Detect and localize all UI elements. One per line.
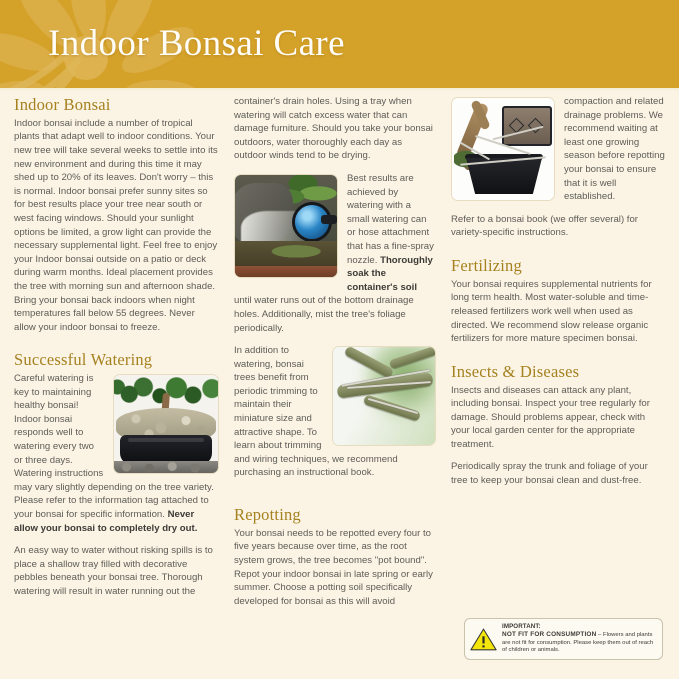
wired-bonsai-branch-photo xyxy=(332,346,436,446)
paragraph-drain-holes: container's drain holes. Using a tray wh… xyxy=(234,95,436,163)
heading-indoor-bonsai: Indoor Bonsai xyxy=(14,95,219,115)
warning-text: IMPORTANT: NOT FIT FOR CONSUMPTION – Flo… xyxy=(502,623,656,654)
warning-headline: NOT FIT FOR CONSUMPTION xyxy=(502,631,596,638)
paragraph-fertilizing: Your bonsai requires supplemental nutrie… xyxy=(451,278,665,346)
warning-triangle-icon xyxy=(470,627,497,651)
column-1: Indoor Bonsai Indoor bonsai include a nu… xyxy=(14,95,231,679)
best-results-plain: Best results are achieved by watering wi… xyxy=(347,173,434,266)
warning-important-label: IMPORTANT: xyxy=(502,623,656,631)
paragraph-indoor-bonsai: Indoor bonsai include a number of tropic… xyxy=(14,117,219,335)
important-warning-box: IMPORTANT: NOT FIT FOR CONSUMPTION – Flo… xyxy=(464,618,663,660)
header-divider xyxy=(0,88,679,91)
column-3: compaction and related drainage problems… xyxy=(448,95,665,679)
heading-repotting: Repotting xyxy=(234,505,436,525)
page-header: Indoor Bonsai Care xyxy=(0,0,679,88)
column-2: container's drain holes. Using a tray wh… xyxy=(231,95,448,679)
paragraph-refer-book: Refer to a bonsai book (we offer several… xyxy=(451,213,665,240)
page-title: Indoor Bonsai Care xyxy=(48,22,345,65)
paragraph-insects-2: Periodically spray the trunk and foliage… xyxy=(451,460,665,487)
bonsai-care-infosheet: Indoor Bonsai Care Indoor Bonsai Indoor … xyxy=(0,0,679,679)
heading-fertilizing: Fertilizing xyxy=(451,256,665,276)
blue-hose-nozzle-watering-photo xyxy=(234,174,338,278)
paragraph-watering-tray: An easy way to water without risking spi… xyxy=(14,544,219,598)
heading-insects-diseases: Insects & Diseases xyxy=(451,362,665,382)
paragraph-repotting: Your bonsai needs to be repotted every f… xyxy=(234,527,436,609)
best-results-tail: until water runs out of the bottom drain… xyxy=(234,295,414,333)
heading-successful-watering: Successful Watering xyxy=(14,350,219,370)
content-columns: Indoor Bonsai Indoor bonsai include a nu… xyxy=(0,95,679,679)
bonsai-pot-wiring-diagram-photo xyxy=(451,97,555,201)
paragraph-insects-1: Insects and diseases can attack any plan… xyxy=(451,384,665,452)
jade-bonsai-in-pot-photo xyxy=(113,374,219,474)
